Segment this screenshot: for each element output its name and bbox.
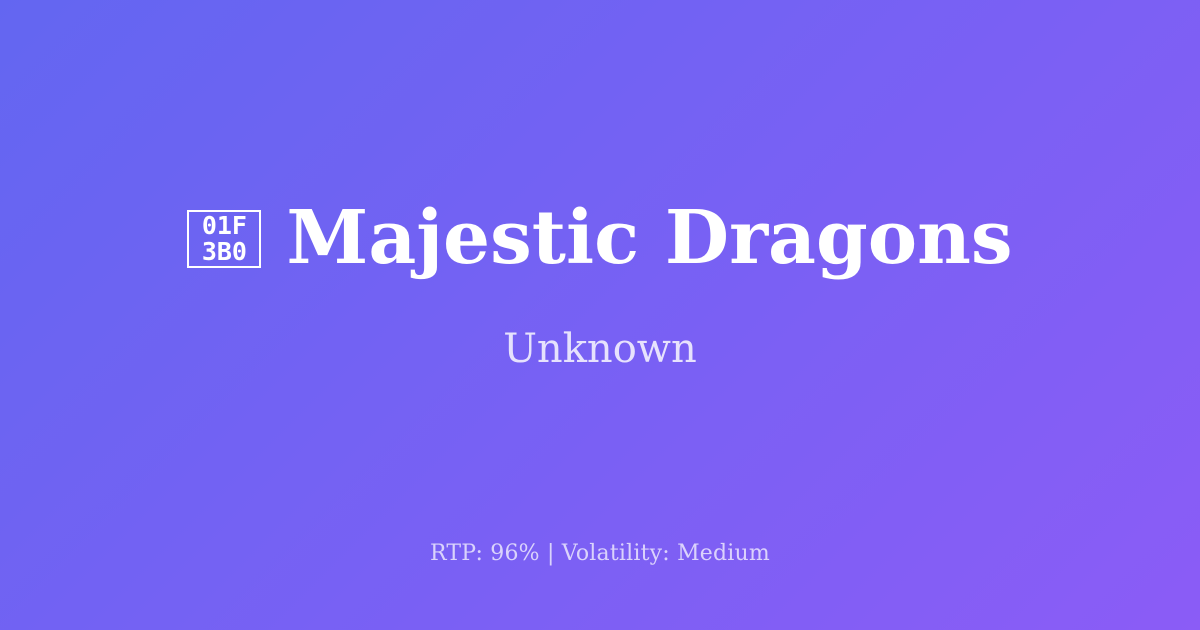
game-provider-subtitle: Unknown: [503, 326, 697, 372]
page-title: 01F 3B0 Majestic Dragons: [187, 200, 1012, 278]
missing-glyph-codepoint-bottom: 3B0: [202, 239, 247, 265]
hero-block: 01F 3B0 Majestic Dragons Unknown: [0, 0, 1200, 630]
slot-machine-icon: 01F 3B0: [187, 210, 261, 268]
og-share-card: 01F 3B0 Majestic Dragons Unknown RTP: 96…: [0, 0, 1200, 630]
missing-glyph-codepoint-top: 01F: [202, 213, 247, 239]
game-title-text: Majestic Dragons: [286, 200, 1012, 278]
game-stats-line: RTP: 96% | Volatility: Medium: [0, 541, 1200, 566]
